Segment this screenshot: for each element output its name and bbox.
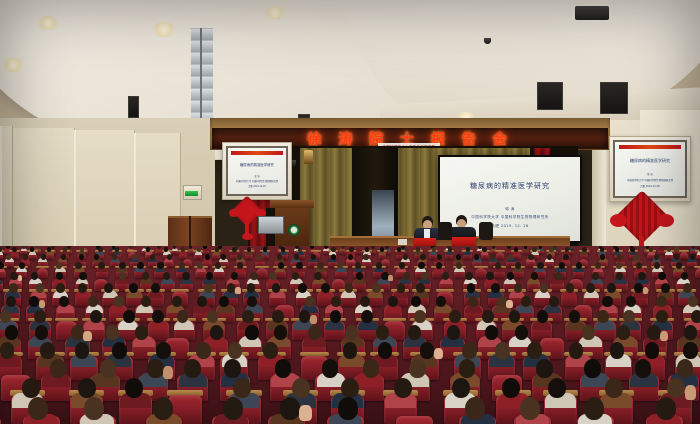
audience-member-head — [78, 283, 87, 293]
audience-member-head — [462, 342, 477, 359]
audience-member-head — [147, 359, 164, 378]
audience-member-head — [119, 262, 125, 269]
audience-member-head — [331, 254, 336, 260]
chair — [479, 222, 493, 240]
audience-member-head — [231, 272, 239, 281]
audience-member-head — [566, 283, 575, 293]
audience-member-head — [540, 283, 549, 293]
audience-member-head — [403, 272, 411, 281]
audience-member-head — [41, 254, 46, 260]
clapping-hands — [506, 300, 512, 308]
audience-member-head — [420, 342, 435, 359]
wall-speaker — [537, 82, 563, 110]
audience-member-head — [6, 254, 11, 260]
audience-member-head — [688, 296, 698, 308]
audience-member-head — [343, 342, 358, 359]
audience-member-head — [408, 325, 421, 340]
audience-member-head — [536, 359, 553, 378]
audience-member-head — [331, 296, 341, 308]
audience-member-head — [495, 342, 510, 359]
right-monitor-title: 糖尿病的精准医学研究 — [615, 158, 685, 164]
audience-member-head — [595, 262, 601, 269]
audience-member-head — [474, 254, 479, 260]
audience-member-head — [67, 246, 71, 249]
clapping-hands — [310, 315, 317, 324]
audience-member-head — [237, 254, 242, 260]
auditorium-photo: 徐 涛 院 士 报 告 会 中国科学技术大学生命科学学院 糖尿病的精准医学研究 … — [0, 0, 700, 424]
auditorium-seat[interactable] — [396, 416, 433, 424]
clapping-hands — [643, 287, 649, 294]
monitor-banner-strip — [231, 151, 282, 155]
audience-member-head — [119, 272, 127, 281]
audience-member-head — [10, 272, 18, 281]
audience-member-head — [674, 254, 679, 260]
audience-member-head — [310, 246, 314, 249]
auditorium-seat[interactable] — [680, 252, 688, 259]
audience-member-head — [634, 254, 639, 260]
audience-member-head — [537, 262, 543, 269]
audience-member-head — [397, 283, 406, 293]
university-emblem-icon — [288, 224, 300, 236]
audience-member-head — [298, 283, 307, 293]
audience-member-head — [554, 272, 562, 281]
audience-member-head — [321, 283, 330, 293]
downlight — [150, 22, 178, 37]
audience-member-head — [515, 325, 528, 340]
audience-member-head — [296, 262, 302, 269]
audience-member-head — [507, 246, 511, 249]
ceiling-projector-secondary — [575, 6, 609, 20]
audience-member-head — [638, 272, 646, 281]
clapping-hands — [39, 300, 45, 308]
audience-member-head — [371, 246, 375, 249]
audience-member-head — [250, 272, 258, 281]
audience-member-head — [79, 254, 84, 260]
audience-member-head — [617, 325, 630, 340]
left-monitor-title: 糖尿病的精准医学研究 — [228, 162, 286, 167]
projector-lift-arm — [196, 28, 208, 128]
audience-member-head — [237, 262, 243, 269]
audience-member-head — [418, 262, 424, 269]
audience-member-head — [656, 397, 676, 420]
audience-member-head — [71, 325, 84, 340]
clapping-hands — [163, 366, 173, 379]
audience-member-head — [179, 262, 185, 269]
audience-member-head — [616, 272, 624, 281]
wall-speaker — [128, 96, 139, 118]
audience-member-head — [656, 296, 666, 308]
audience-member-head — [197, 262, 203, 269]
audience-member-head — [29, 296, 39, 308]
audience-member-head — [233, 378, 251, 399]
audience-member-head — [459, 359, 476, 378]
clapping-hands — [83, 331, 91, 342]
right-monitor-affiliation: 中国科学院大学 中国科学院生物物理研究所 — [615, 178, 685, 182]
table-paper — [398, 239, 407, 245]
audience-member-head — [150, 254, 155, 260]
audience-member-head — [94, 254, 99, 260]
audience-member-head — [123, 310, 135, 323]
audience-member-head — [106, 325, 119, 340]
audience-member-head — [272, 283, 281, 293]
audience-member-head — [205, 254, 210, 260]
clapping-hands — [434, 348, 443, 360]
audience-member-head — [112, 342, 127, 359]
audience-member-head — [125, 378, 143, 399]
audience-member-head — [607, 283, 616, 293]
audience-member-head — [90, 310, 102, 323]
audience-member-head — [0, 342, 14, 359]
audience-member-head — [658, 272, 666, 281]
audience-member-head — [182, 272, 190, 281]
clapping-hands — [388, 275, 393, 281]
wall-sconce — [304, 150, 313, 164]
audience-member-head — [515, 262, 521, 269]
audience-member-head — [345, 283, 354, 293]
audience-member-head — [482, 310, 494, 323]
audience-member-head — [647, 325, 660, 340]
audience-member-head — [104, 283, 113, 293]
audience-member-head — [196, 342, 211, 359]
audience-member-head — [676, 262, 682, 269]
left-monitor-affiliation: 中国科学院大学 中国科学院生物物理研究所 — [228, 179, 286, 183]
audience-member-head — [634, 283, 643, 293]
audience-member-head — [0, 262, 4, 269]
audience-member-head — [75, 262, 81, 269]
audience-member-head — [569, 342, 584, 359]
audience-member-head — [376, 325, 389, 340]
left-monitor-place-date: 合肥 2019.12.26 — [228, 184, 286, 188]
audience-member-head — [167, 254, 172, 260]
downlight — [35, 16, 61, 30]
audience-member-head — [294, 254, 299, 260]
audience-member-head — [661, 283, 670, 293]
audience-member-head — [490, 254, 495, 260]
audience-member-head — [152, 310, 164, 323]
audience-member-head — [292, 378, 310, 399]
audience-member-head — [6, 296, 16, 308]
audience-member-head — [228, 342, 243, 359]
audience-member-head — [537, 310, 549, 323]
audience-member-head — [163, 272, 171, 281]
audience-member-head — [363, 254, 368, 260]
audience-member-head — [34, 310, 46, 323]
audience-member-head — [442, 272, 450, 281]
audience-member-head — [35, 325, 48, 340]
audience-member-head — [357, 246, 361, 249]
audience-member-head — [677, 359, 694, 378]
audience-member-head — [645, 342, 660, 359]
auditorium-seat[interactable] — [0, 416, 1, 424]
clapping-hands — [18, 275, 23, 281]
right-wall-monitor-frame: 糖尿病的精准医学研究 徐 涛 中国科学院大学 中国科学院生物物理研究所 合肥 2… — [609, 136, 691, 202]
left-monitor-speaker: 徐 涛 — [228, 174, 286, 178]
audience-member-head — [203, 246, 207, 249]
audience-member-head — [372, 283, 381, 293]
audience-member-head — [660, 246, 664, 249]
downlight — [0, 58, 26, 72]
audience-member-head — [272, 310, 284, 323]
podium-top — [270, 200, 314, 208]
audience-member-head — [269, 272, 277, 281]
audience-member-head — [129, 246, 133, 249]
audience-member-head — [153, 397, 173, 420]
audience-member-head — [586, 283, 595, 293]
audience-member-head — [420, 254, 425, 260]
audience-member-head — [322, 359, 339, 378]
audience-member-head — [520, 397, 540, 420]
audience-member-head — [378, 342, 393, 359]
chair — [438, 222, 452, 240]
audience-member-head — [447, 325, 460, 340]
audience-member-head — [497, 296, 507, 308]
slide-speaker: 徐 涛 — [440, 207, 580, 212]
right-wall-monitor-screen: 糖尿病的精准医学研究 徐 涛 中国科学院大学 中国科学院生物物理研究所 合肥 2… — [615, 142, 685, 196]
audience-member-head — [19, 262, 25, 269]
audience-member-head — [437, 254, 442, 260]
audience-member-head — [449, 310, 461, 323]
left-wall-monitor-frame: 糖尿病的精准医学研究 徐 涛 中国科学院大学 中国科学院生物物理研究所 合肥 2… — [222, 142, 292, 200]
audience-member-head — [151, 283, 160, 293]
audience-member-head — [341, 246, 345, 249]
audience-member-head — [278, 262, 284, 269]
audience-member-head — [135, 325, 148, 340]
audience-member-head — [584, 397, 604, 420]
audience-member-head — [465, 272, 473, 281]
audience-member-head — [456, 262, 462, 269]
audience-member-head — [137, 262, 143, 269]
audience-member-head — [242, 310, 254, 323]
audience-member-head — [28, 397, 48, 420]
clapping-hands — [235, 287, 241, 294]
downlight — [262, 6, 288, 19]
audience-member-head — [314, 272, 322, 281]
audience-member-head — [23, 254, 28, 260]
dome-camera-icon — [484, 38, 491, 44]
audience-member-head — [40, 342, 55, 359]
audience-member-head — [132, 254, 137, 260]
audience-member-head — [331, 247, 335, 252]
audience-member-head — [436, 262, 442, 269]
audience-member-head — [345, 325, 358, 340]
audience-member-head — [51, 246, 55, 249]
audience-member-head — [635, 359, 652, 378]
audience-member-head — [100, 359, 117, 378]
audience-member-head — [355, 262, 361, 269]
audience-member-head — [421, 272, 429, 281]
audience-member-head — [317, 262, 323, 269]
audience-member-head — [617, 254, 622, 260]
audience-member-head — [75, 342, 90, 359]
audience-member-head — [210, 325, 223, 340]
audience-member-head — [129, 283, 138, 293]
audience-member-head — [247, 283, 256, 293]
name-placard — [452, 237, 476, 246]
audience-member-head — [6, 246, 10, 249]
audience-member-head — [361, 310, 373, 323]
audience-area — [0, 246, 700, 424]
auditorium-seat[interactable] — [695, 268, 700, 278]
right-monitor-speaker: 徐 涛 — [615, 172, 685, 176]
audience-member-head — [5, 325, 18, 340]
audience-member-head — [411, 296, 421, 308]
audience-member-head — [409, 359, 426, 378]
audience-member-head — [257, 254, 262, 260]
audience-member-head — [602, 296, 612, 308]
audience-member-head — [9, 283, 18, 293]
audience-member-head — [280, 397, 300, 420]
audience-member-head — [654, 254, 659, 260]
audience-member-head — [508, 254, 513, 260]
audience-member-head — [275, 359, 292, 378]
audience-member-head — [22, 378, 40, 399]
audience-member-head — [403, 254, 408, 260]
audience-member-head — [385, 246, 389, 249]
audience-member-head — [597, 310, 609, 323]
audience-member-head — [623, 310, 635, 323]
audience-member-head — [584, 359, 601, 378]
audience-member-head — [277, 254, 282, 260]
stage-monitor — [258, 216, 284, 234]
audience-member-head — [56, 283, 65, 293]
audience-member-head — [79, 272, 87, 281]
audience-member-head — [245, 325, 258, 340]
audience-member-head — [465, 397, 485, 420]
audience-member-head — [84, 397, 104, 420]
audience-member-head — [221, 254, 226, 260]
audience-member-head — [157, 262, 163, 269]
audience-member-head — [112, 254, 117, 260]
audience-member-head — [600, 254, 605, 260]
clapping-hands — [299, 405, 311, 421]
audience-member-head — [184, 359, 201, 378]
clapping-hands — [660, 331, 668, 342]
audience-member-head — [401, 246, 405, 249]
audience-member-head — [224, 359, 241, 378]
audience-member-head — [507, 272, 515, 281]
audience-member-head — [12, 247, 16, 252]
right-monitor-place-date: 合肥 2019.12.26 — [615, 184, 685, 188]
audience-member-head — [468, 296, 478, 308]
audience-member-head — [582, 247, 586, 252]
audience-member-head — [690, 254, 695, 260]
wall-speaker — [600, 82, 628, 114]
audience-member-head — [376, 262, 382, 269]
audience-member-head — [263, 342, 278, 359]
audience-member-head — [157, 246, 161, 249]
audience-member-head — [416, 283, 425, 293]
audience-member-head — [113, 296, 123, 308]
audience-member-head — [486, 272, 494, 281]
audience-member-head — [177, 310, 189, 323]
audience-member-head — [348, 254, 353, 260]
audience-member-head — [338, 397, 358, 420]
audience-member-head — [414, 310, 426, 323]
audience-member-head — [509, 310, 521, 323]
audience-member-head — [527, 342, 542, 359]
audience-member-head — [172, 296, 182, 308]
slide-title: 糖尿病的精准医学研究 — [440, 181, 580, 191]
audience-member-head — [467, 283, 476, 293]
audience-member-head — [223, 397, 243, 420]
audience-member-head — [308, 325, 321, 340]
audience-member-head — [491, 283, 500, 293]
audience-member-head — [514, 283, 523, 293]
audience-member-head — [61, 254, 66, 260]
audience-member-head — [636, 262, 642, 269]
audience-member-head — [156, 342, 171, 359]
audience-member-head — [656, 310, 668, 323]
audience-member-head — [610, 342, 625, 359]
audience-member-head — [684, 325, 697, 340]
audience-member-head — [576, 262, 582, 269]
audience-member-head — [204, 283, 213, 293]
clapping-hands — [685, 385, 696, 400]
audience-member-head — [528, 254, 533, 260]
name-placard — [414, 238, 436, 246]
exit-sign-green-panel — [185, 191, 198, 196]
auditorium-seat[interactable] — [37, 268, 49, 278]
audience-member-head — [456, 254, 461, 260]
audience-member-head — [559, 262, 565, 269]
audience-member-head — [215, 262, 221, 269]
audience-member-head — [98, 262, 104, 269]
audience-member-head — [59, 296, 69, 308]
audience-member-head — [399, 262, 405, 269]
auditorium-seat[interactable] — [496, 252, 504, 259]
audience-member-head — [683, 342, 698, 359]
monitor-banner-strip — [619, 145, 681, 149]
audience-member-head — [563, 254, 568, 260]
audience-member-head — [691, 310, 700, 323]
audience-member-head — [549, 296, 559, 308]
audience-member-head — [363, 359, 380, 378]
audience-member-head — [683, 283, 692, 293]
left-wall-monitor-screen: 糖尿病的精准医学研究 徐 涛 中国科学院大学 中国科学院生物物理研究所 合肥 2… — [228, 148, 286, 194]
audience-member-head — [50, 359, 67, 378]
